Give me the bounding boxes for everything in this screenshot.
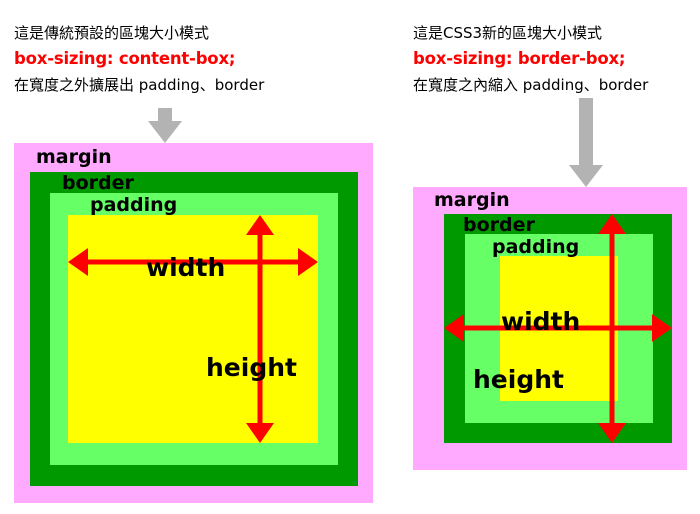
arrow-head-down (598, 423, 626, 443)
arrow-head-right (652, 314, 672, 342)
arrow-head-right (298, 248, 318, 276)
caption-line-note: 在寬度之外擴展出 padding、border (14, 72, 264, 98)
height-measure-arrow (597, 214, 627, 443)
caption-line-description: 這是CSS3新的區塊大小模式 (413, 20, 648, 46)
content-box-caption: 這是傳統預設的區塊大小模式 box-sizing: content-box; 在… (14, 20, 264, 98)
border-label: border (463, 215, 535, 235)
height-measure-arrow (245, 215, 275, 443)
arrow-head (148, 121, 182, 143)
down-arrow-icon (148, 108, 182, 143)
height-label: height (206, 355, 297, 381)
width-label: width (146, 255, 225, 281)
caption-line-code: box-sizing: content-box; (14, 46, 264, 72)
padding-label: padding (492, 237, 579, 257)
width-label: width (501, 309, 580, 335)
arrow-head-up (246, 215, 274, 235)
margin-label: margin (36, 147, 112, 167)
padding-label: padding (90, 195, 177, 215)
down-arrow-icon (569, 98, 603, 187)
arrow-head-up (598, 214, 626, 234)
arrow-shaft (579, 98, 593, 167)
arrow-head-left (444, 314, 464, 342)
height-label: height (473, 367, 564, 393)
arrow-head (569, 165, 603, 187)
caption-line-description: 這是傳統預設的區塊大小模式 (14, 20, 264, 46)
caption-line-code: box-sizing: border-box; (413, 46, 648, 72)
content-box-diagram: margin border padding width height (14, 143, 373, 503)
arrow-head-down (246, 423, 274, 443)
caption-line-note: 在寬度之內縮入 padding、border (413, 72, 648, 98)
measure-bar (258, 232, 263, 426)
margin-label: margin (434, 190, 510, 210)
border-box-diagram: margin border padding width height (413, 187, 687, 470)
border-box-caption: 這是CSS3新的區塊大小模式 box-sizing: border-box; 在… (413, 20, 648, 98)
border-label: border (62, 173, 134, 193)
measure-bar (610, 231, 615, 426)
arrow-head-left (68, 248, 88, 276)
